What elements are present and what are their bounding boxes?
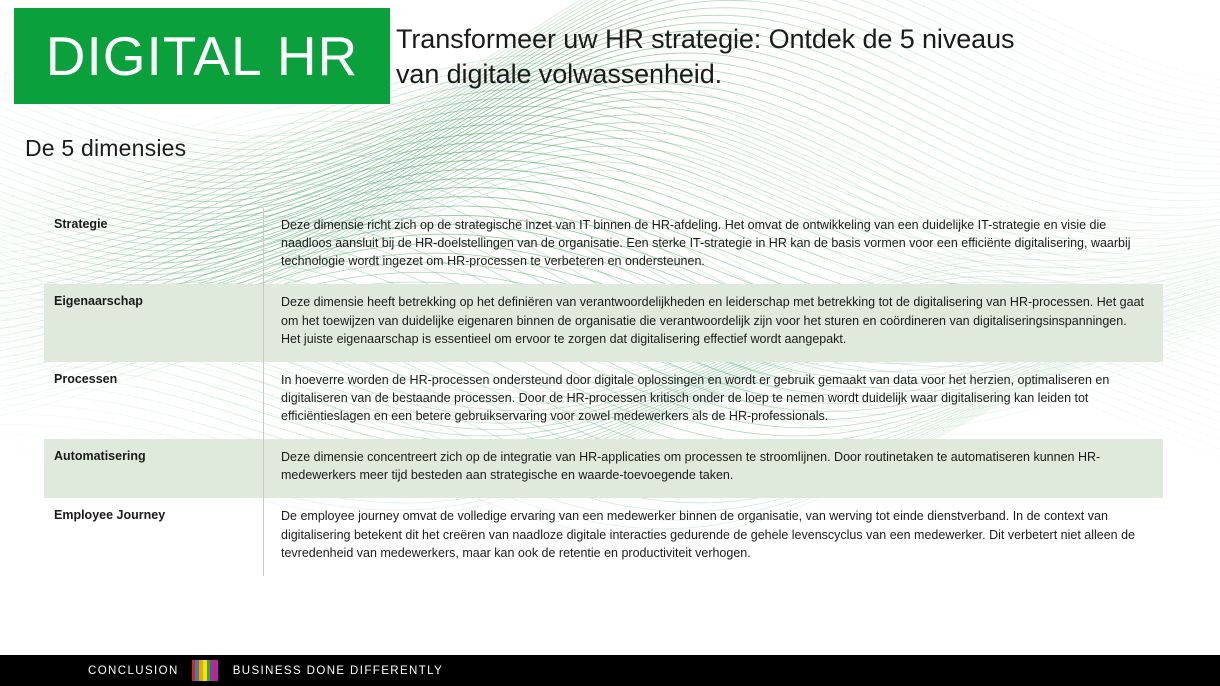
dimension-description: Deze dimensie richt zich op de strategis… <box>264 208 1164 284</box>
dimension-description: De employee journey omvat de volledige e… <box>264 498 1164 575</box>
dimension-description: In hoeverre worden de HR-processen onder… <box>264 362 1164 439</box>
dimension-label: Strategie <box>44 208 264 284</box>
dimensions-table: StrategieDeze dimensie richt zich op de … <box>44 208 1163 576</box>
dimension-label: Automatisering <box>44 439 264 498</box>
dimension-label: Employee Journey <box>44 498 264 575</box>
table-row: ProcessenIn hoeverre worden de HR-proces… <box>44 362 1163 439</box>
brand-name: DIGITAL HR <box>46 29 359 84</box>
section-heading: De 5 dimensies <box>25 135 186 162</box>
footer-tagline: BUSINESS DONE DIFFERENTLY <box>233 665 444 677</box>
dimension-description: Deze dimensie concentreert zich op de in… <box>264 439 1164 498</box>
color-stripe <box>214 660 218 681</box>
color-stripes-icon <box>192 660 218 681</box>
dimension-label: Eigenaarschap <box>44 284 264 361</box>
footer-brand-label: CONCLUSION <box>88 665 179 677</box>
dimension-description: Deze dimensie heeft betrekking op het de… <box>264 284 1164 361</box>
footer-bar: CONCLUSION BUSINESS DONE DIFFERENTLY <box>0 655 1220 686</box>
table-row: AutomatiseringDeze dimensie concentreert… <box>44 439 1163 498</box>
slide-canvas: DIGITAL HR Transformeer uw HR strategie:… <box>0 0 1220 686</box>
table-row: Employee JourneyDe employee journey omva… <box>44 498 1163 575</box>
page-title: Transformeer uw HR strategie: Ontdek de … <box>396 22 1036 91</box>
table-row: StrategieDeze dimensie richt zich op de … <box>44 208 1163 284</box>
dimension-label: Processen <box>44 362 264 439</box>
brand-block: DIGITAL HR <box>14 8 390 104</box>
table-row: EigenaarschapDeze dimensie heeft betrekk… <box>44 284 1163 361</box>
